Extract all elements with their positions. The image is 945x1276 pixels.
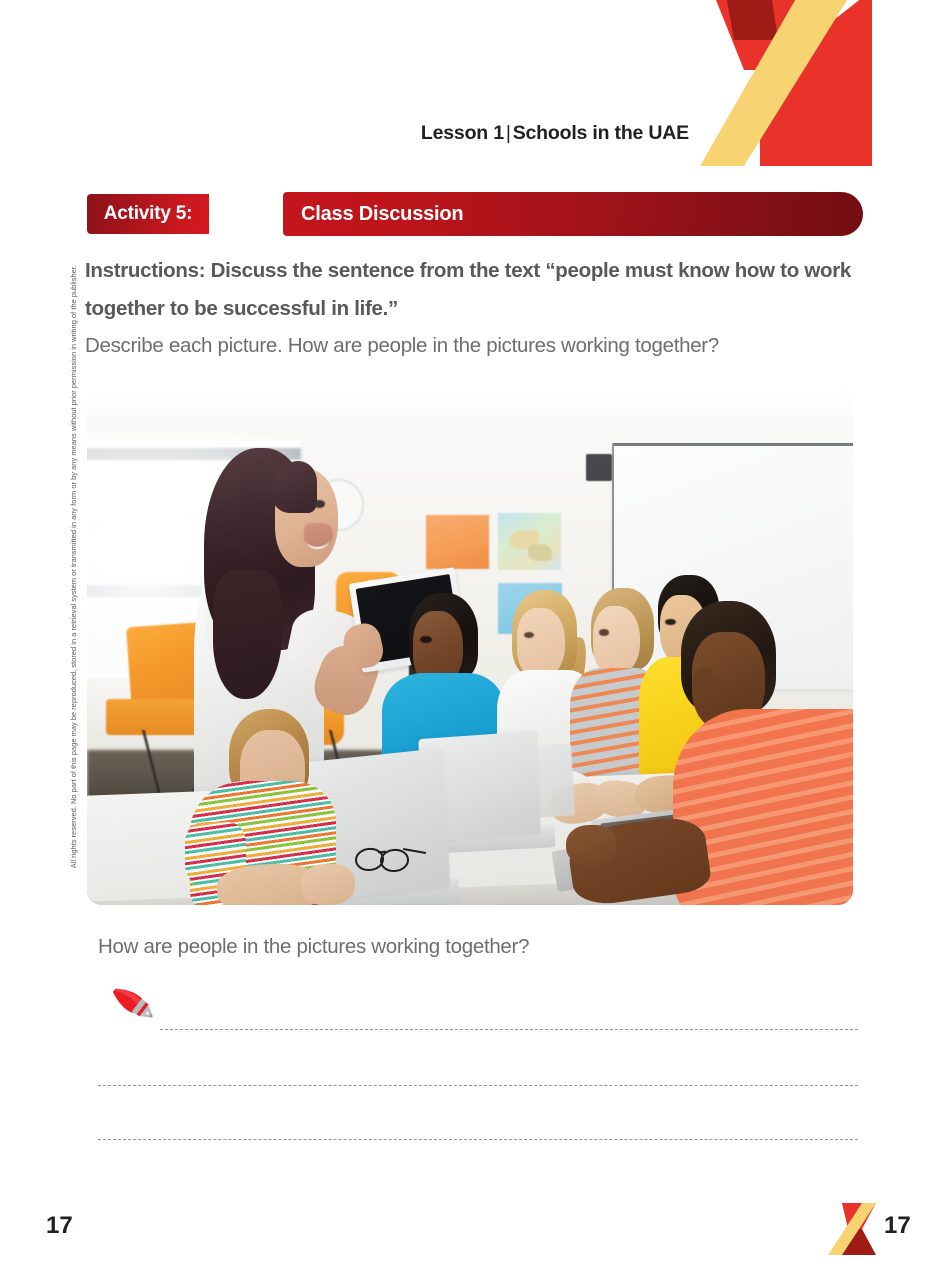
header-separator: |: [504, 122, 513, 144]
describe-prompt: Describe each picture. How are people in…: [85, 334, 885, 358]
instructions-text: Instructions: Discuss the sentence from …: [85, 252, 875, 328]
answer-line-1[interactable]: [160, 1029, 858, 1030]
child-white-cardigan: [517, 608, 564, 678]
copyright-text: All rights reserved. No part of this pag…: [69, 265, 78, 868]
activity-header: Activity 5: Class Discussion: [87, 192, 863, 236]
child-striped-top: [593, 606, 640, 676]
answer-line-2[interactable]: [98, 1085, 858, 1086]
page-header-title: Lesson 1|Schools in the UAE: [421, 122, 689, 145]
lesson-title: Schools in the UAE: [513, 122, 689, 144]
classroom-photo: [87, 389, 853, 905]
answer-line-3[interactable]: [98, 1139, 858, 1140]
copyright-sidebar: All rights reserved. No part of this pag…: [56, 265, 76, 1005]
brand-logo-top: [700, 0, 872, 166]
activity-title-bar: Class Discussion: [283, 192, 863, 236]
activity-title: Class Discussion: [301, 203, 463, 226]
page-number-left: 17: [46, 1212, 73, 1240]
activity-number-label: Activity 5:: [104, 203, 193, 225]
lesson-label: Lesson 1: [421, 122, 504, 144]
projector-mount: [586, 454, 611, 482]
page-number-right: 17: [884, 1212, 911, 1240]
wall-poster-map: [498, 513, 561, 570]
wall-poster-orange: [426, 515, 489, 569]
question-text: How are people in the pictures working t…: [98, 935, 529, 959]
brand-logo-bottom: [828, 1203, 876, 1255]
pen-icon: [103, 983, 155, 1031]
activity-number-badge: Activity 5:: [87, 194, 209, 234]
